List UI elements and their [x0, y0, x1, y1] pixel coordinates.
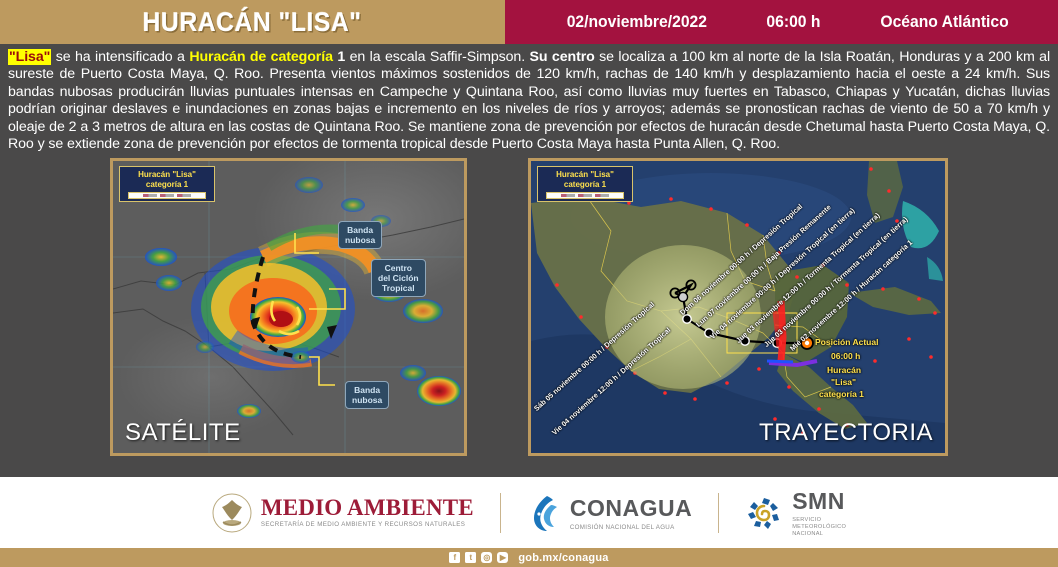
satellite-badge: Huracán "Lisa" categoría 1 [119, 166, 215, 202]
current-position-label: Posición Actual [815, 337, 878, 348]
badge-line-1: Huracán "Lisa" [128, 170, 206, 180]
twitter-icon[interactable]: t [465, 552, 476, 563]
bulletin-basin: Océano Atlántico [881, 13, 1009, 32]
current-storm-line3: categoría 1 [819, 389, 864, 400]
smn-title: SMN [792, 488, 846, 515]
conagua-wave-icon [527, 493, 561, 533]
badge-line-2: categoría 1 [128, 180, 206, 190]
bulletin-seg5: en la escala Saffir-Simpson. [345, 49, 529, 65]
social-bar: f t ◎ ▶ gob.mx/conagua [0, 548, 1058, 567]
satellite-panel[interactable]: Huracán "Lisa" categoría 1 Banda nubosa … [110, 158, 467, 456]
panels-row: Huracán "Lisa" categoría 1 Banda nubosa … [6, 153, 1052, 456]
badge-logo-strip [546, 192, 624, 199]
bulletin-date: 02/noviembre/2022 [566, 13, 706, 32]
logo-divider-1 [500, 493, 501, 533]
badge-line-2: categoría 1 [546, 180, 624, 190]
label-banda-nubosa-bottom: Banda nubosa [345, 381, 389, 409]
conagua-title: CONAGUA [570, 495, 692, 522]
content-area: "Lisa" se ha intensificado a Huracán de … [0, 44, 1058, 477]
storm-name-highlight: "Lisa" [8, 49, 51, 65]
logo-divider-2 [718, 493, 719, 533]
logo-medio-ambiente: MEDIO AMBIENTE SECRETARÍA DE MEDIO AMBIE… [212, 493, 474, 533]
label-banda-nubosa-top: Banda nubosa [338, 221, 382, 249]
bulletin-seg2: se ha intensificado a [51, 49, 189, 65]
current-position-time: 06:00 h [831, 351, 860, 362]
badge-line-1: Huracán "Lisa" [546, 170, 624, 180]
medio-ambiente-title: MEDIO AMBIENTE [261, 496, 474, 519]
mexican-eagle-icon [212, 493, 252, 533]
gobmx-url[interactable]: gob.mx/conagua [518, 552, 608, 564]
conagua-subtitle: COMISIÓN NACIONAL DEL AGUA [570, 524, 692, 531]
trajectory-badge: Huracán "Lisa" categoría 1 [537, 166, 633, 202]
category-highlight: Huracán de categoría [189, 49, 333, 65]
current-storm-line2: "Lisa" [831, 377, 856, 388]
smn-spiral-icon [745, 493, 783, 533]
smn-subtitle: SERVICIO METEOROLÓGICO NACIONAL [792, 517, 846, 538]
facebook-icon[interactable]: f [449, 552, 460, 563]
trajectory-caption: TRAYECTORIA [759, 419, 933, 447]
label-centro-ciclon: Centro del Ciclón Tropical [371, 259, 426, 297]
bulletin-time: 06:00 h [767, 13, 821, 32]
logo-conagua: CONAGUA COMISIÓN NACIONAL DEL AGUA [527, 493, 692, 533]
logo-smn: SMN SERVICIO METEOROLÓGICO NACIONAL [745, 488, 846, 538]
header-title-block: HURACÁN "LISA" [0, 0, 505, 44]
center-label: Su centro [530, 49, 595, 65]
page-title: HURACÁN "LISA" [143, 7, 362, 38]
instagram-icon[interactable]: ◎ [481, 552, 492, 563]
footer-logos: MEDIO AMBIENTE SECRETARÍA DE MEDIO AMBIE… [0, 477, 1058, 548]
badge-logo-strip [128, 192, 206, 199]
satellite-imagery [113, 161, 464, 453]
youtube-icon[interactable]: ▶ [497, 552, 508, 563]
medio-ambiente-subtitle: SECRETARÍA DE MEDIO AMBIENTE Y RECURSOS … [261, 522, 474, 528]
category-number: 1 [333, 49, 345, 65]
current-storm-line1: Huracán [827, 365, 861, 376]
bulletin-text: "Lisa" se ha intensificado a Huracán de … [6, 49, 1052, 153]
trajectory-panel[interactable]: Huracán "Lisa" categoría 1 Sáb 05 noviem… [528, 158, 948, 456]
header-meta-block: 02/noviembre/2022 06:00 h Océano Atlánti… [505, 0, 1058, 44]
satellite-caption: SATÉLITE [125, 419, 241, 447]
page-header: HURACÁN "LISA" 02/noviembre/2022 06:00 h… [0, 0, 1058, 44]
